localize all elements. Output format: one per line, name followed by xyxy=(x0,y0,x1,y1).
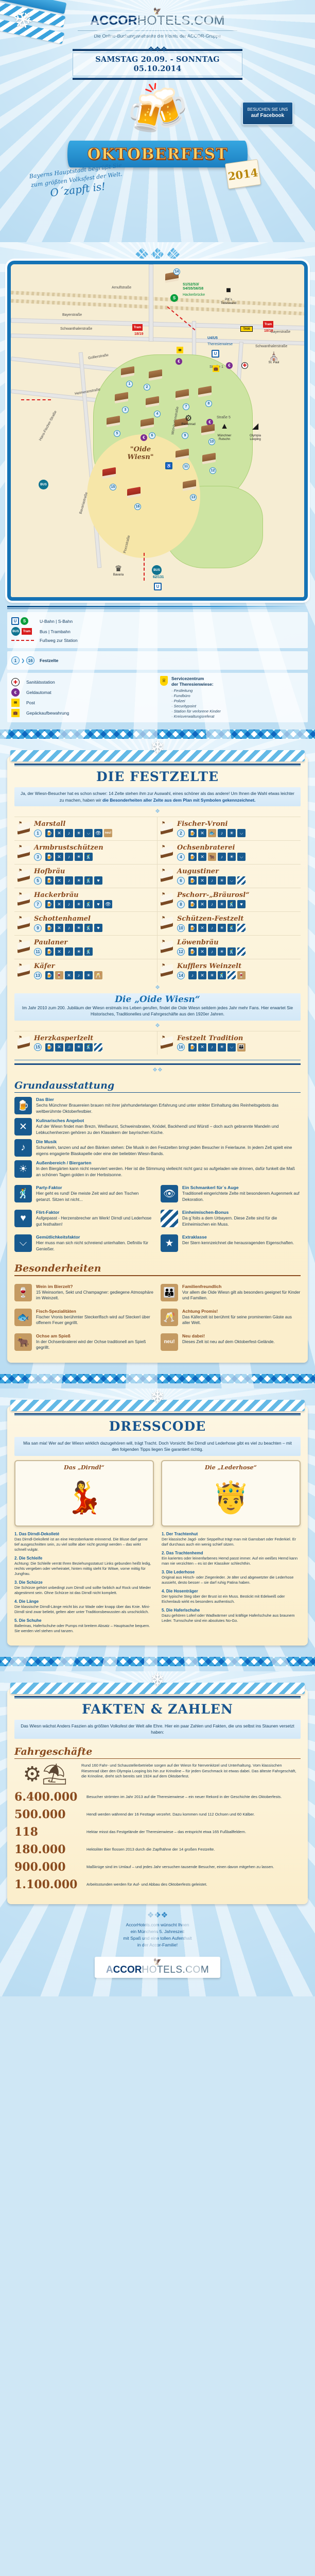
tent-body: Armbrustschützen3🍺✕♪☀🕺 xyxy=(34,844,154,861)
eye-badge-icon: 👁 xyxy=(104,900,112,908)
bavaria-pattern-icon xyxy=(161,1210,178,1227)
bird-icon: 🦅 xyxy=(106,1960,209,1964)
tent-body: Herzkasperlzelt15🍺✕♫☀🕺 xyxy=(34,1035,154,1052)
tent-badges: 7🍺✕♪☀🕺♥👁 xyxy=(34,900,154,908)
music-badge-icon: ♪ xyxy=(188,971,197,979)
rollercoaster-icon: ◢ xyxy=(243,422,267,431)
feature-desc: Hier muss man sich nicht schreiend unter… xyxy=(36,1240,154,1252)
sun-badge-icon: ☀ xyxy=(227,853,236,861)
champagne-icon: 🥂 xyxy=(161,1309,178,1326)
fact-number: 1.100.000 xyxy=(14,1878,81,1891)
food-badge-icon: ✕ xyxy=(55,924,63,932)
music-badge-icon: ♪ xyxy=(218,853,226,861)
tent-house-icon: ⚑ xyxy=(16,892,32,906)
tent-entry[interactable]: ⚑Augustiner6🍺✕♪☀⌵ xyxy=(157,864,301,888)
tent-entry[interactable]: ⚑Fischer-Vroni2🍺✕🐟♪☀⌵ xyxy=(157,817,301,840)
beer-badge-icon: 🍺 xyxy=(45,900,54,908)
tent-entry[interactable]: ⚑Ochsenbraterei4🍺✕🐂♪☀⌵ xyxy=(157,840,301,864)
food-badge-icon: ✕ xyxy=(198,924,206,932)
street-label: Arnulfstraße xyxy=(112,286,131,290)
feature-title: Party-Faktor xyxy=(36,1185,154,1190)
tent-badges: 5🍺✕♪☀🕺♥ xyxy=(34,876,154,885)
music-badge-icon: ♪ xyxy=(208,900,216,908)
feature-text: Die MusikSchunkeln, tanzen und auf den B… xyxy=(36,1139,301,1157)
medical-cross-icon: ✚ xyxy=(11,678,20,686)
feature-text: Achtung Promis!Das Käferzelt ist berühmt… xyxy=(182,1309,301,1326)
brand-hotels: HOTELS.COM xyxy=(137,13,225,28)
tent-marker: 1 xyxy=(126,381,133,387)
feature-text: Wein im Bierzelt?15 Weinsorten, Sekt und… xyxy=(36,1284,154,1301)
oktoberfest-wordmark: OKTOBERFEST xyxy=(67,141,248,167)
feature-item: 👁Ein Schmankerl für´s AugeTraditionell e… xyxy=(161,1185,301,1202)
food-badge-icon: ✕ xyxy=(55,947,63,956)
tent-entry[interactable]: ⚑Armbrustschützen3🍺✕♪☀🕺 xyxy=(14,840,157,864)
hero-artwork: 🍻 xyxy=(0,85,315,134)
footpath-dashed xyxy=(21,399,51,400)
legend-label: Sanitätsstation xyxy=(26,680,55,685)
dresscode-tip: 4. Die LängeDie klassische Dirndl-Länge … xyxy=(14,1599,153,1615)
dresscode-tip-text: Die klassische Dirndl-Länge reicht bis z… xyxy=(14,1604,153,1615)
dresscode-tip: 1. Der TrachtenhutDer klassische Jagd- o… xyxy=(162,1532,301,1547)
feature-text: GemütlichkeitsfaktorHier muss man sich n… xyxy=(36,1234,154,1252)
music-badge-icon: ♪ xyxy=(208,876,216,885)
dresscode-intro: Mia san mia! Wer auf der Wiesn wirklich … xyxy=(14,1437,301,1456)
feature-desc: 15 Weinsorten, Sekt und Champagner: gedi… xyxy=(36,1290,154,1301)
tent-marker: 7 xyxy=(183,403,189,410)
beer-badge-icon: 🍺 xyxy=(45,924,54,932)
legend-label: Fußweg zur Station xyxy=(40,638,78,643)
tent-body: Schottenhamel9🍺✕♪☀🕺♥ xyxy=(34,915,154,932)
dresscode-tip: 3. Die SchürzeDie Schürze gehört unbedin… xyxy=(14,1580,153,1596)
feature-text: Das BierSechs Münchner Brauereien brauen… xyxy=(36,1097,301,1114)
feature-item: neu!Neu dabei!Dieses Zelt ist neu auf de… xyxy=(161,1333,301,1351)
sun-badge-icon: ☀ xyxy=(75,947,83,956)
beer-badge-icon: 🍺 xyxy=(45,829,54,837)
tent-house-icon: ⚑ xyxy=(16,940,32,953)
fact-number: 900.000 xyxy=(14,1861,81,1873)
map-attraction: ◢ Olympia Looping xyxy=(243,419,267,442)
feature-title: Einheimischen-Bonus xyxy=(182,1210,301,1215)
divider-ornament: ❖❖ xyxy=(14,1067,301,1073)
map-legend: U S U-Bahn | S-Bahn BUS Tram Bus | Tramb… xyxy=(7,606,308,722)
dresscode-tip-text: Ein kariertes oder leinenfarbenes Hemd p… xyxy=(162,1556,301,1566)
list-item: · Station für verlorene Kinder xyxy=(171,709,221,714)
feature-item: 🐟Fisch-SpezialitätenFischer Vronis berüh… xyxy=(14,1309,154,1326)
tent-badges: 14♪✕☀🕺🍷 xyxy=(177,971,297,979)
tent-badges: 12🍺✕♪☀🕺 xyxy=(177,947,297,956)
tent-marker: 4 xyxy=(154,411,161,417)
tent-number: 10 xyxy=(177,924,185,932)
bavaria-badge-icon xyxy=(237,876,246,885)
fact-number: 180.000 xyxy=(14,1843,81,1856)
bavaria-badge-icon xyxy=(237,947,246,956)
post-horn-icon: ✉ xyxy=(177,347,183,353)
feature-desc: Dieses Zelt ist neu auf dem Oktoberfest-… xyxy=(182,1339,275,1345)
cozy-badge-icon: ⌵ xyxy=(227,1043,236,1052)
sbahn-station-label: Hackerbrücke xyxy=(183,293,205,297)
sun-badge-icon: ☀ xyxy=(75,1043,83,1052)
dresscode-tips-right: 1. Der TrachtenhutDer klassische Jagd- o… xyxy=(162,1532,301,1637)
feature-desc: Der Stern kennzeichnet die herausragende… xyxy=(182,1240,294,1246)
tent-entry[interactable]: ⚑Schützen-Festzelt10🍺✕♪☀🕺 xyxy=(157,911,301,935)
dresscode-panel: ❄ DRESSCODE Mia san mia! Wer auf der Wie… xyxy=(7,1406,308,1646)
dresscode-tip-text: Achtung: Die Schleife verrät Ihren Bezie… xyxy=(14,1561,153,1577)
tent-badges: 13🍺🍷✕♪☀🥂 xyxy=(34,971,154,979)
tent-name: Marstall xyxy=(34,820,154,828)
footer-section: ❖❖❖ AccorHotels.com wünscht Ihnen ein Mü… xyxy=(0,1904,315,1991)
party-badge-icon: 🕺 xyxy=(84,924,93,932)
tent-number: 2 xyxy=(177,829,185,837)
sun-badge-icon: ☀ xyxy=(75,853,83,861)
food-badge-icon: ✕ xyxy=(198,947,206,956)
beer-badge-icon: 🍺 xyxy=(45,853,54,861)
fakten-title: FAKTEN & ZAHLEN xyxy=(14,1702,301,1717)
brand-accor: ACCOR xyxy=(90,13,137,28)
medical-cross-icon: ✚ xyxy=(241,362,248,369)
tent-marker: 13 xyxy=(190,494,197,501)
dresscode-tip-title: 5. Die Haferlschuhe xyxy=(162,1608,301,1613)
food-badge-icon: ✕ xyxy=(198,829,206,837)
feature-desc: Aufgepasst - Herzensbrecher am Werk! Dir… xyxy=(36,1215,154,1227)
tent-entry[interactable]: ⚑Herzkasperlzelt15🍺✕♫☀🕺 xyxy=(14,1031,157,1055)
tent-badges: 9🍺✕♪☀🕺♥ xyxy=(34,924,154,932)
fakten-section: ❄ FAKTEN & ZAHLEN Das Wiesn wächst Ander… xyxy=(0,1671,315,1997)
sun-badge-icon: ☀ xyxy=(84,971,93,979)
tent-entry[interactable]: ⚑Löwenbräu12🍺✕♪☀🕺 xyxy=(157,935,301,959)
tent-marker-16: 16 xyxy=(26,656,34,665)
tent-house-icon: ⚑ xyxy=(16,916,32,929)
fact-text: Hektar misst das Festgelände der Theresi… xyxy=(86,1829,301,1835)
fact-number: 6.400.000 xyxy=(14,1791,81,1803)
fact-number: 500.000 xyxy=(14,1808,81,1821)
tent-marker-1: 1 xyxy=(11,656,20,665)
divider-ornament: ❖ xyxy=(14,985,301,990)
dresscode-section: ❄ DRESSCODE Mia san mia! Wer auf der Wie… xyxy=(0,1388,315,1671)
street-label: Schwanthalerstraße xyxy=(255,345,287,348)
tent-entry[interactable]: ⚑Schottenhamel9🍺✕♪☀🕺♥ xyxy=(14,911,157,935)
food-badge-icon: ✕ xyxy=(198,876,206,885)
tent-number: 3 xyxy=(34,853,42,861)
tent-entry[interactable]: ⚑Paulaner11🍺✕♪☀🕺 xyxy=(14,935,157,959)
tent-body: Festzelt Tradition16🍺✕♪☀⌵👪 xyxy=(177,1035,297,1052)
tent-badges: 4🍺✕🐂♪☀⌵ xyxy=(177,853,297,861)
list-item: · Festleitung xyxy=(171,688,221,693)
dresscode-tip: 2. Die SchleifeAchtung: Die Schleife ver… xyxy=(14,1556,153,1577)
feature-item: ⌵GemütlichkeitsfaktorHier muss man sich … xyxy=(14,1234,154,1252)
legend-row: 1 ❯ 16 Festzelte xyxy=(11,656,304,665)
dresscode-tip-text: Original aus Hirsch- oder Ziegenleder. J… xyxy=(162,1575,301,1585)
feature-desc: Fischer Vronis berühmter Steckerlfisch w… xyxy=(36,1314,154,1326)
tent-name: Herzkasperlzelt xyxy=(34,1035,154,1042)
dirndl-card: Das „Dirndl“ 💃 xyxy=(14,1460,154,1527)
food-badge-icon: ✕ xyxy=(198,1043,206,1052)
tent-house-icon: ⚑ xyxy=(160,963,175,977)
legend-row: Fußweg zur Station xyxy=(11,638,304,643)
feature-text: Flirt-FaktorAufgepasst - Herzensbrecher … xyxy=(36,1210,154,1227)
party-badge-icon: 🕺 xyxy=(227,900,236,908)
feature-title: Ein Schmankerl für´s Auge xyxy=(182,1185,301,1190)
fact-text: Maßkrüge sind im Umlauf – und jedes Jahr… xyxy=(86,1865,301,1870)
sun-badge-icon: ☀ xyxy=(75,900,83,908)
feature-desc: In der Ochsenbraterei wird der Ochse tra… xyxy=(36,1339,154,1351)
map-attraction: ⚙ Riesenrad xyxy=(177,415,200,427)
tent-marker: 12 xyxy=(209,467,216,474)
sun-badge-icon: ☀ xyxy=(218,924,226,932)
tent-name: Kufflers Weinzelt xyxy=(177,962,297,970)
festzelte-title: DIE FESTZELTE xyxy=(14,769,301,784)
music-badge-icon: ♪ xyxy=(65,853,73,861)
oide-wiesn-label: "Oide Wiesn" xyxy=(94,446,187,461)
music-badge-icon: ♪ xyxy=(208,947,216,956)
cozy-icon: ⌵ xyxy=(14,1234,32,1252)
fact-row: 118Hektar misst das Festgelände der Ther… xyxy=(14,1826,301,1838)
heart-badge-icon: ♥ xyxy=(94,924,102,932)
bus-icon[interactable]: BUS xyxy=(39,480,48,489)
tent-entry[interactable]: ⚑Pschorr-„Bräurosl“8🍺✕♪☀🕺♥ xyxy=(157,888,301,911)
beer-badge-icon: 🍺 xyxy=(188,947,197,956)
sbahn-lines-label: S1/S2/S3/ S4/S5/S6/S8 xyxy=(183,283,203,291)
food-badge-icon: ✕ xyxy=(55,876,63,885)
tent-number: 11 xyxy=(34,948,42,956)
dresscode-tip-text: Der klassische Jagd- oder Seppelhut träg… xyxy=(162,1537,301,1547)
tent-number: 16 xyxy=(177,1043,185,1051)
tent-entry[interactable]: ⚑Hackerbräu7🍺✕♪☀🕺♥👁 xyxy=(14,888,157,911)
tent-badges: 16🍺✕♪☀⌵👪 xyxy=(177,1043,297,1052)
feature-title: Das Bier xyxy=(36,1097,301,1102)
tent-house-icon: ⚑ xyxy=(16,963,32,977)
fish-badge-icon: 🐟 xyxy=(208,829,216,837)
dancing-people-icon: 🕺 xyxy=(14,1185,32,1202)
tent-body: Pschorr-„Bräurosl“8🍺✕♪☀🕺♥ xyxy=(177,891,297,908)
music-badge-icon: ♪ xyxy=(65,924,73,932)
ubahn-icon[interactable]: U xyxy=(154,583,162,590)
sun-badge-icon: ☀ xyxy=(218,900,226,908)
feature-text: Fisch-SpezialitätenFischer Vronis berühm… xyxy=(36,1309,154,1326)
ubahn-station-label: Theresienwiese xyxy=(207,343,233,347)
tent-house-icon: ⚑ xyxy=(16,821,32,835)
star-icon: ★ xyxy=(161,1234,178,1252)
tent-number: 15 xyxy=(34,1043,42,1051)
beer-badge-icon: 🍺 xyxy=(45,971,54,979)
tent-name: Löwenbräu xyxy=(177,939,297,946)
feature-text: Außenbereich / BiergartenIn den Biergärt… xyxy=(36,1160,301,1178)
feature-text: Kulinarisches AngebotAuf der Wiesn finde… xyxy=(36,1118,301,1136)
beer-badge-icon: 🍺 xyxy=(188,853,197,861)
map-attraction: ▲ Münchner Rutschn xyxy=(213,419,236,442)
list-item: · Kreisverwaltungsreferat xyxy=(171,714,221,719)
feature-title: Familienfreundlich xyxy=(182,1284,301,1289)
beer-badge-icon: 🍺 xyxy=(45,947,54,956)
tent-entry[interactable]: ⚑Marstall1🍺✕♪☀⌵👁neu! xyxy=(14,817,157,840)
feature-item: 🐂Ochse am SpießIn der Ochsenbraterei wir… xyxy=(14,1333,154,1351)
legend-label: Bus | Trambahn xyxy=(40,629,71,634)
feature-text: Ochse am SpießIn der Ochsenbraterei wird… xyxy=(36,1333,154,1351)
tent-name: Armbrustschützen xyxy=(34,844,154,852)
list-item: · Polizei xyxy=(171,699,221,704)
tent-entry[interactable]: ⚑Festzelt Tradition16🍺✕♪☀⌵👪 xyxy=(157,1031,301,1055)
tram-icon[interactable]: Tram xyxy=(263,321,273,328)
bus-icon[interactable]: BUS xyxy=(152,565,162,575)
fish-icon: 🐟 xyxy=(14,1309,32,1326)
cozy-badge-icon: ⌵ xyxy=(237,829,246,837)
munich-crest-icon: ♕ xyxy=(160,676,168,686)
tram-lines-label: 18/19 xyxy=(264,329,273,333)
music-note-icon: ♪ xyxy=(14,1139,32,1157)
feature-desc: Da g´foits a dem Urbayern. Diese Zelte s… xyxy=(182,1215,301,1227)
family-icon: 👪 xyxy=(161,1284,178,1301)
music-badge-icon: ♪ xyxy=(208,1043,216,1052)
dresscode-tip-text: Das Dirndl-Dekolleté ist an eine Herzobe… xyxy=(14,1537,153,1552)
tent-body: Käfer13🍺🍷✕♪☀🥂 xyxy=(34,962,154,979)
event-date-range: SAMSTAG 20.09. - SONNTAG 05.10.2014 xyxy=(95,55,220,73)
tent-badges: 2🍺✕🐟♪☀⌵ xyxy=(177,829,297,837)
fact-text: Arbeitsstunden werden für Auf- und Abbau… xyxy=(86,1882,301,1888)
ubahn-icon[interactable]: U xyxy=(212,350,219,358)
new-icon: neu! xyxy=(161,1333,178,1351)
tram-icon: Tram xyxy=(22,628,32,635)
cutlery-icon: ✕ xyxy=(14,1118,32,1136)
feature-item: ♪Die MusikSchunkeln, tanzen und auf den … xyxy=(14,1139,301,1157)
service-center-list: · Festleitung · Fundbüro · Polizei · Sec… xyxy=(171,688,221,719)
feature-desc: Auf der Wiesn findet man Brezn, Weißwurs… xyxy=(36,1124,301,1136)
dresscode-tip-text: Der typische Steg über der Brust ist ein… xyxy=(162,1594,301,1604)
year-tag: 2014 xyxy=(225,159,261,189)
tent-entry[interactable]: ⚑Käfer13🍺🍷✕♪☀🥂 xyxy=(14,959,157,982)
edelweiss-icon: ❄ xyxy=(150,1671,165,1689)
grundausstattung-list: 🍺Das BierSechs Münchner Brauereien braue… xyxy=(14,1097,301,1178)
wine-badge-icon: 🍷 xyxy=(237,971,246,979)
tent-entry[interactable]: ⚑Kufflers Weinzelt14♪✕☀🕺🍷 xyxy=(157,959,301,982)
oide-tent-list: ⚑Herzkasperlzelt15🍺✕♫☀🕺⚑Festzelt Traditi… xyxy=(14,1031,301,1055)
feature-title: Die Musik xyxy=(36,1139,301,1144)
tent-number: 14 xyxy=(177,972,185,979)
feature-title: Gemütlichkeitsfaktor xyxy=(36,1234,154,1240)
fakten-intro: Das Wiesn wächst Anders Faszien als größ… xyxy=(14,1720,301,1739)
dresscode-tip-title: 3. Die Schürze xyxy=(14,1580,153,1585)
beer-mug-icon: 🍻 xyxy=(127,82,188,137)
dresscode-tip-title: 1. Das Dirndl-Dekolleté xyxy=(14,1532,153,1536)
tent-body: Hofbräu5🍺✕♪☀🕺♥ xyxy=(34,868,154,885)
dresscode-title: DRESSCODE xyxy=(14,1419,301,1434)
tent-number: 13 xyxy=(34,972,42,979)
heart-badge-icon: ♥ xyxy=(94,900,102,908)
neu-badge-icon: neu! xyxy=(104,829,112,837)
wheelchair-icon: ♿ xyxy=(165,462,172,469)
party-badge-icon: 🕺 xyxy=(218,971,226,979)
list-item: · Securitypoint xyxy=(171,704,221,709)
food-badge-icon: ✕ xyxy=(55,853,63,861)
fact-row: 1.100.000Arbeitsstunden werden für Auf- … xyxy=(14,1878,301,1891)
lederhose-figure: 🤴 xyxy=(165,1473,296,1522)
ox-icon: 🐂 xyxy=(14,1333,32,1351)
bus-lines-label: 62/131 xyxy=(153,575,164,580)
map-crest-ornament: ❖❖❖ xyxy=(0,249,315,261)
dresscode-tip: 4. Die HosenträgerDer typische Steg über… xyxy=(162,1589,301,1604)
legend-row: ✚ Sanitätsstation xyxy=(11,678,155,686)
divider-ornament: ❖ xyxy=(14,1023,301,1028)
tent-number: 7 xyxy=(34,901,42,908)
feature-item: ✕Kulinarisches AngebotAuf der Wiesn find… xyxy=(14,1118,301,1136)
tent-name: Käfer xyxy=(34,962,154,970)
feature-desc: Traditionell eingerichtete Zelte mit bes… xyxy=(182,1191,301,1202)
dresscode-tip-text: Ballerinas, Haferlschuhe oder Pumps mit … xyxy=(14,1623,153,1634)
sbahn-icon[interactable]: S xyxy=(170,294,178,302)
fact-row: 500.000Hendl werden während der 16 Festt… xyxy=(14,1808,301,1821)
feature-text: Ein Schmankerl für´s AugeTraditionell ei… xyxy=(182,1185,301,1202)
header-section: ❄ 🦅 ACCORHOTELS.COM Die Online-Buchungsw… xyxy=(0,0,315,242)
sun-badge-icon: ☀ xyxy=(218,1043,226,1052)
bavaria-badge-icon xyxy=(227,971,236,979)
eye-icon: 👁 xyxy=(161,1185,178,1202)
tent-house-icon: ⚑ xyxy=(16,845,32,858)
tram-icon[interactable]: Tram xyxy=(132,324,143,331)
sbahn-icon: S xyxy=(21,617,28,625)
tent-number: 1 xyxy=(34,829,42,837)
beer-badge-icon: 🍺 xyxy=(188,1043,197,1052)
service-center-title: Servicezentrum der Theresienwiese: xyxy=(171,676,221,687)
bavaria-badge-icon xyxy=(94,1043,102,1052)
ubahn-lines-label: U4/U5 xyxy=(207,336,218,341)
wall-of-death-icon: ■ xyxy=(217,286,240,295)
footer-quote: AccorHotels.com wünscht Ihnen ein Münche… xyxy=(31,1922,284,1948)
street-label: Bayerstraße xyxy=(271,330,290,334)
tent-house-icon: ⚑ xyxy=(16,869,32,882)
cozy-badge-icon: ⌵ xyxy=(84,829,93,837)
party-badge-icon: 🕺 xyxy=(227,924,236,932)
tent-house-icon: ⚑ xyxy=(160,869,175,882)
sun-badge-icon: ☀ xyxy=(218,947,226,956)
tent-house-icon: ⚑ xyxy=(160,845,175,858)
tent-house-icon: ⚑ xyxy=(160,916,175,929)
cozy-badge-icon: ⌵ xyxy=(237,853,246,861)
edelweiss-icon: ❄ xyxy=(150,1388,165,1406)
tent-house-icon: ⚑ xyxy=(16,1036,32,1049)
oide-wiesn-title: Die „Oide Wiesn“ xyxy=(21,996,294,1003)
tent-marker: 11 xyxy=(183,463,189,470)
dresscode-tip: 5. Die SchuheBallerinas, Haferlschuhe od… xyxy=(14,1618,153,1634)
dresscode-tip: 3. Die LederhoseOriginal aus Hirsch- ode… xyxy=(162,1570,301,1585)
bavaria-badge-icon xyxy=(237,924,246,932)
feature-item: 👪FamilienfreundlichVor allem die Oide Wi… xyxy=(161,1284,301,1301)
feature-text: Einheimischen-BonusDa g´foits a dem Urba… xyxy=(182,1210,301,1227)
tent-name: Hofbräu xyxy=(34,868,154,875)
festzelte-panel: ❄ DIE FESTZELTE Ja, der Wiesn-Besucher h… xyxy=(7,756,308,1363)
fact-row: 6.400.000Besucher strömten im Jahr 2013 … xyxy=(14,1791,301,1803)
food-badge-icon: ✕ xyxy=(198,853,206,861)
sun-badge-icon: ☀ xyxy=(208,971,216,979)
tent-name: Ochsenbraterei xyxy=(177,844,297,852)
party-badge-icon: 🕺 xyxy=(84,876,93,885)
party-badge-icon: 🕺 xyxy=(84,853,93,861)
tent-marker: 9 xyxy=(182,432,188,439)
footer-accorhotels-logo[interactable]: 🦅 ACCORHOTELS.COM xyxy=(95,1957,220,1978)
street-label: Bayerstraße xyxy=(62,313,82,317)
feature-item: 🕺Party-FaktorHier geht es rund! Die meis… xyxy=(14,1185,154,1202)
edelweiss-icon: ❄ xyxy=(150,739,165,756)
feature-item: ★ExtraklasseDer Stern kennzeichnet die h… xyxy=(161,1234,301,1252)
legend-row: U S U-Bahn | S-Bahn xyxy=(11,617,304,625)
dresscode-tips: 1. Das Dirndl-DekolletéDas Dirndl-Dekoll… xyxy=(14,1532,301,1637)
tent-body: Augustiner6🍺✕♪☀⌵ xyxy=(177,868,297,885)
tent-name: Schottenhamel xyxy=(34,915,154,923)
festzelte-intro-bold: die Besonderheiten aller Zelte aus dem P… xyxy=(102,798,255,803)
feature-desc: Vor allem die Oide Wiesn gilt als besond… xyxy=(182,1290,301,1301)
tent-entry[interactable]: ⚑Hofbräu5🍺✕♪☀🕺♥ xyxy=(14,864,157,888)
taxi-icon[interactable]: TAXI xyxy=(240,326,253,332)
wiesn-map[interactable]: Arnulfstraße Bayerstraße Schwanthalerstr… xyxy=(7,261,308,601)
fact-text: Besucher strömten im Jahr 2013 auf die T… xyxy=(86,1794,301,1800)
legend-label: Post xyxy=(26,700,35,705)
